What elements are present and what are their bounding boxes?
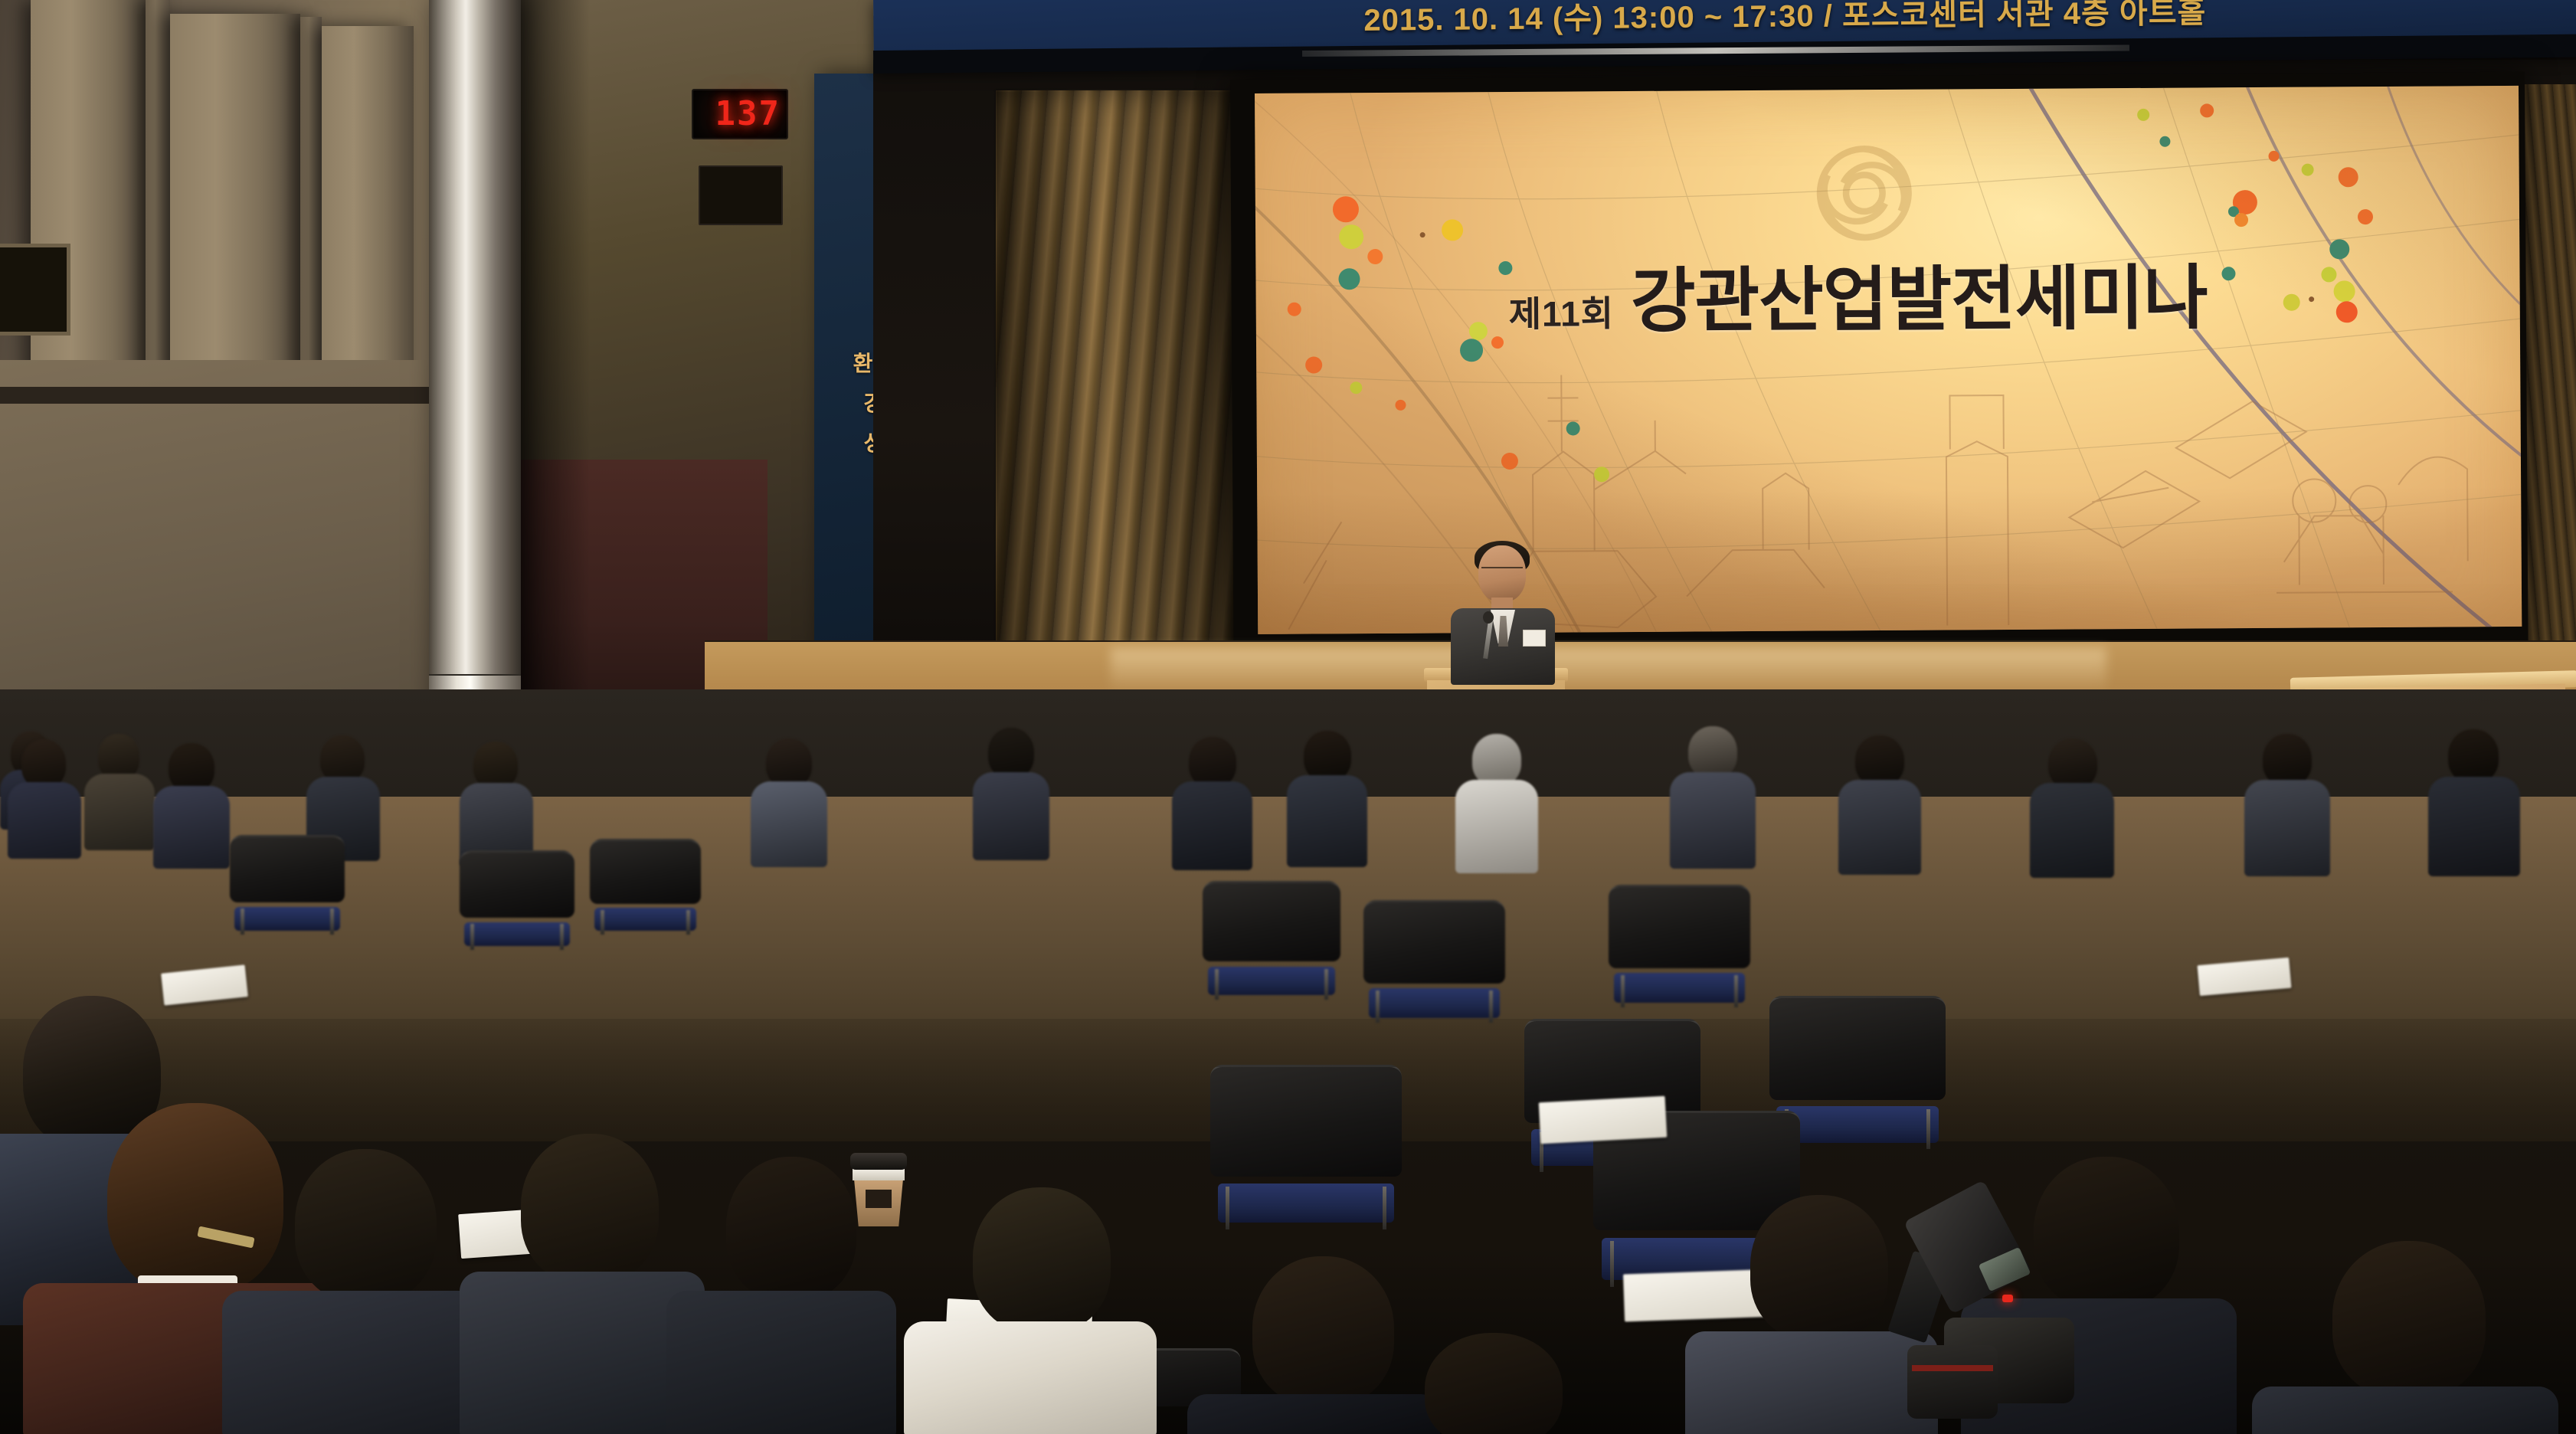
dslr-camera	[1900, 1195, 2175, 1434]
name-badge	[1523, 630, 1546, 647]
audience-foreground	[0, 904, 2576, 1434]
stage-curtain-right	[2520, 84, 2576, 697]
audience-member	[153, 743, 230, 866]
audience-member	[2252, 1241, 2558, 1434]
audience-member-white-shirt	[904, 1187, 1157, 1434]
led-clock-digits: 137	[715, 97, 781, 132]
microphone-head	[1483, 611, 1494, 624]
audience-member	[2428, 729, 2520, 875]
stage-curtain-left-shading	[996, 90, 1256, 703]
af-assist-led	[2002, 1295, 2013, 1302]
auditorium-photo: 137 글로벌 환경변화와 강관산업 성장전략 2015. 10. 14 (수)…	[0, 0, 2576, 1434]
audience-member	[973, 728, 1049, 858]
speaker-presenter	[1449, 545, 1556, 683]
camera-lens	[1907, 1345, 1998, 1419]
lens-red-ring	[1912, 1365, 1993, 1371]
event-banner-text: 2015. 10. 14 (수) 13:00 ~ 17:30 / 포스코센터 서…	[1363, 0, 2207, 40]
projection-screen: 제11회 강관산업발전세미나	[1255, 86, 2522, 634]
screen-title-main: 강관산업발전세미나	[1630, 241, 2208, 346]
audience-member	[2030, 738, 2114, 876]
audience-member	[1287, 731, 1367, 865]
audience-member	[1371, 1333, 1616, 1434]
audience-member	[1838, 735, 1921, 873]
audience-member	[751, 738, 827, 865]
audience-member	[1455, 734, 1538, 870]
stage-floor-reflection	[1111, 648, 2106, 694]
audience-member	[666, 1157, 896, 1434]
audience-member	[84, 734, 155, 849]
audience-member	[8, 739, 81, 854]
audience-member	[222, 1149, 483, 1434]
audience-member	[1172, 737, 1252, 867]
screen-title: 제11회 강관산업발전세미나	[1508, 240, 2352, 347]
audience-member	[1670, 726, 1756, 866]
audience-member	[460, 742, 533, 864]
screen-title-prefix: 제11회	[1509, 286, 1615, 337]
wall-vent	[0, 244, 70, 336]
atom-swirl-logo-icon	[1791, 128, 1937, 259]
audience-member	[2244, 734, 2330, 875]
wall-control-panel	[699, 165, 783, 225]
led-clock-display: 137	[692, 89, 788, 139]
speaker-glasses	[1481, 567, 1523, 576]
